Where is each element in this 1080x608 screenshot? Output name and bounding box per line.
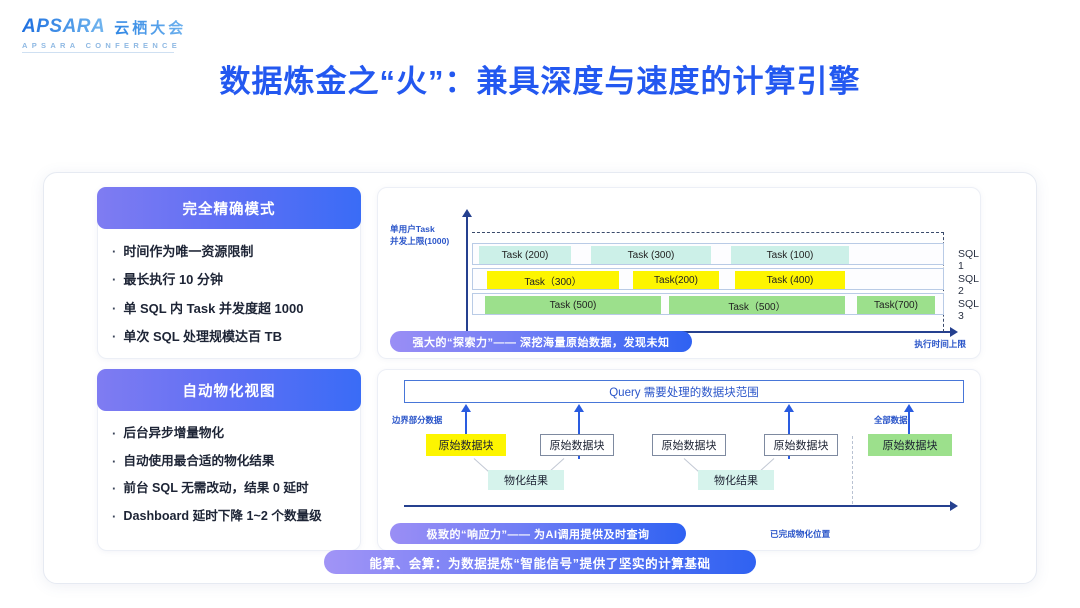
content-panel: 完全精确模式 · 时间作为唯一资源限制 · 最长执行 10 分钟 · 单 SQL… bbox=[43, 172, 1037, 584]
caption-materialized-position: 已完成物化位置 bbox=[770, 528, 830, 540]
materialization-boundary-divider bbox=[852, 436, 853, 504]
data-block: 原始数据块 bbox=[868, 434, 952, 456]
timeline-arrow-icon bbox=[950, 501, 958, 511]
timeline-axis bbox=[404, 505, 952, 507]
task-segment: Task (300) bbox=[591, 246, 711, 264]
bullet-text: 最长执行 10 分钟 bbox=[123, 272, 223, 288]
table-row: Task (200) Task (300) Task (100) bbox=[472, 243, 944, 265]
data-block: 原始数据块 bbox=[764, 434, 838, 456]
x-axis-caption: 执行时间上限 bbox=[914, 338, 966, 350]
task-segment: Task(200) bbox=[633, 271, 719, 289]
row-label-sql1: SQL 1 bbox=[958, 248, 980, 272]
bullet-text: Dashboard 延时下降 1~2 个数量级 bbox=[123, 509, 321, 525]
bullet-text: 单 SQL 内 Task 并发度超 1000 bbox=[123, 301, 303, 317]
page-title: 数据炼金之“火”：兼具深度与速度的计算引擎 bbox=[0, 56, 1080, 101]
brand-logo: APSARA 云栖大会 APSARA CONFERENCE bbox=[22, 16, 186, 50]
bullet-text: 后台异步增量物化 bbox=[123, 426, 224, 442]
logo-subtitle: APSARA CONFERENCE bbox=[22, 41, 186, 50]
data-block: 原始数据块 bbox=[540, 434, 614, 456]
bullet-dot-icon: · bbox=[112, 329, 116, 345]
table-row: Task（300） Task(200) Task (400) bbox=[472, 268, 944, 290]
card-auto-materialized-view: 自动物化视图 · 后台异步增量物化 · 自动使用最合适的物化结果 · 前台 SQ… bbox=[97, 369, 361, 551]
row-label-sql3: SQL 3 bbox=[958, 298, 980, 322]
list-item: · 前台 SQL 无需改动，结果 0 延时 bbox=[112, 481, 354, 497]
bullet-text: 前台 SQL 无需改动，结果 0 延时 bbox=[123, 481, 308, 497]
bullet-text: 时间作为唯一资源限制 bbox=[123, 244, 253, 260]
card-auto-materialized-view-body: · 后台异步增量物化 · 自动使用最合适的物化结果 · 前台 SQL 无需改动，… bbox=[98, 412, 360, 525]
table-row: Task (500) Task（500） Task(700) bbox=[472, 293, 944, 315]
banner-exploration-power: 强大的“探索力”—— 深挖海量原始数据，发现未知 bbox=[390, 331, 692, 352]
bullet-dot-icon: · bbox=[112, 244, 116, 260]
footer-banner: 能算、会算：为数据提炼“智能信号”提供了坚实的计算基础 bbox=[324, 550, 756, 574]
concurrency-limit-dashed-line bbox=[472, 232, 944, 233]
bullet-dot-icon: · bbox=[112, 454, 116, 470]
logo-divider bbox=[22, 52, 174, 53]
list-item: · 单次 SQL 处理规模达百 TB bbox=[112, 329, 354, 345]
task-segment: Task(700) bbox=[857, 296, 935, 314]
diagram-materialization: Query 需要处理的数据块范围 边界部分数据 全部数据 原始数据块 原始数据块… bbox=[377, 369, 981, 551]
y-axis-line bbox=[466, 215, 468, 333]
task-segment: Task (200) bbox=[479, 246, 571, 264]
task-segment: Task (100) bbox=[731, 246, 849, 264]
bullet-dot-icon: · bbox=[112, 481, 116, 497]
y-axis-label: 单用户Task 并发上限(1000) bbox=[390, 224, 449, 247]
banner-response-power: 极致的“响应力”—— 为AI调用提供及时查询 bbox=[390, 523, 686, 544]
y-axis-label-line1: 单用户Task bbox=[390, 224, 449, 236]
diagram-task-concurrency: 单用户Task 并发上限(1000) Task (200) Task (300)… bbox=[377, 187, 981, 359]
card-exact-mode-body: · 时间作为唯一资源限制 · 最长执行 10 分钟 · 单 SQL 内 Task… bbox=[98, 230, 360, 345]
list-item: · 时间作为唯一资源限制 bbox=[112, 244, 354, 260]
list-item: · 后台异步增量物化 bbox=[112, 426, 354, 442]
tag-all-data: 全部数据 bbox=[874, 414, 908, 426]
bullet-text: 自动使用最合适的物化结果 bbox=[123, 454, 274, 470]
list-item: · 最长执行 10 分钟 bbox=[112, 272, 354, 288]
logo-apsara-text: APSARA bbox=[22, 16, 105, 38]
bullet-dot-icon: · bbox=[112, 509, 116, 525]
up-arrow-icon bbox=[465, 411, 467, 435]
task-segment: Task (500) bbox=[485, 296, 661, 314]
card-auto-materialized-view-header: 自动物化视图 bbox=[97, 369, 361, 411]
up-arrow-icon bbox=[908, 411, 910, 435]
bullet-dot-icon: · bbox=[112, 272, 116, 288]
card-exact-mode-header: 完全精确模式 bbox=[97, 187, 361, 229]
data-block: 原始数据块 bbox=[652, 434, 726, 456]
logo-chinese-text: 云栖大会 bbox=[114, 17, 186, 38]
bullet-dot-icon: · bbox=[112, 301, 116, 317]
list-item: · 自动使用最合适的物化结果 bbox=[112, 454, 354, 470]
bullet-dot-icon: · bbox=[112, 426, 116, 442]
materialized-result: 物化结果 bbox=[698, 470, 774, 490]
bullet-text: 单次 SQL 处理规模达百 TB bbox=[123, 329, 282, 345]
task-segment: Task（500） bbox=[669, 296, 845, 314]
list-item: · Dashboard 延时下降 1~2 个数量级 bbox=[112, 509, 354, 525]
task-segment: Task（300） bbox=[487, 271, 619, 289]
x-axis-arrow-icon bbox=[950, 327, 958, 337]
query-range-bar: Query 需要处理的数据块范围 bbox=[404, 380, 964, 403]
data-block: 原始数据块 bbox=[426, 434, 506, 456]
card-exact-mode: 完全精确模式 · 时间作为唯一资源限制 · 最长执行 10 分钟 · 单 SQL… bbox=[97, 187, 361, 359]
y-axis-label-line2: 并发上限(1000) bbox=[390, 236, 449, 248]
materialized-result: 物化结果 bbox=[488, 470, 564, 490]
tag-boundary-data: 边界部分数据 bbox=[392, 414, 442, 426]
task-segment: Task (400) bbox=[735, 271, 845, 289]
list-item: · 单 SQL 内 Task 并发度超 1000 bbox=[112, 301, 354, 317]
row-label-sql2: SQL 2 bbox=[958, 273, 980, 297]
